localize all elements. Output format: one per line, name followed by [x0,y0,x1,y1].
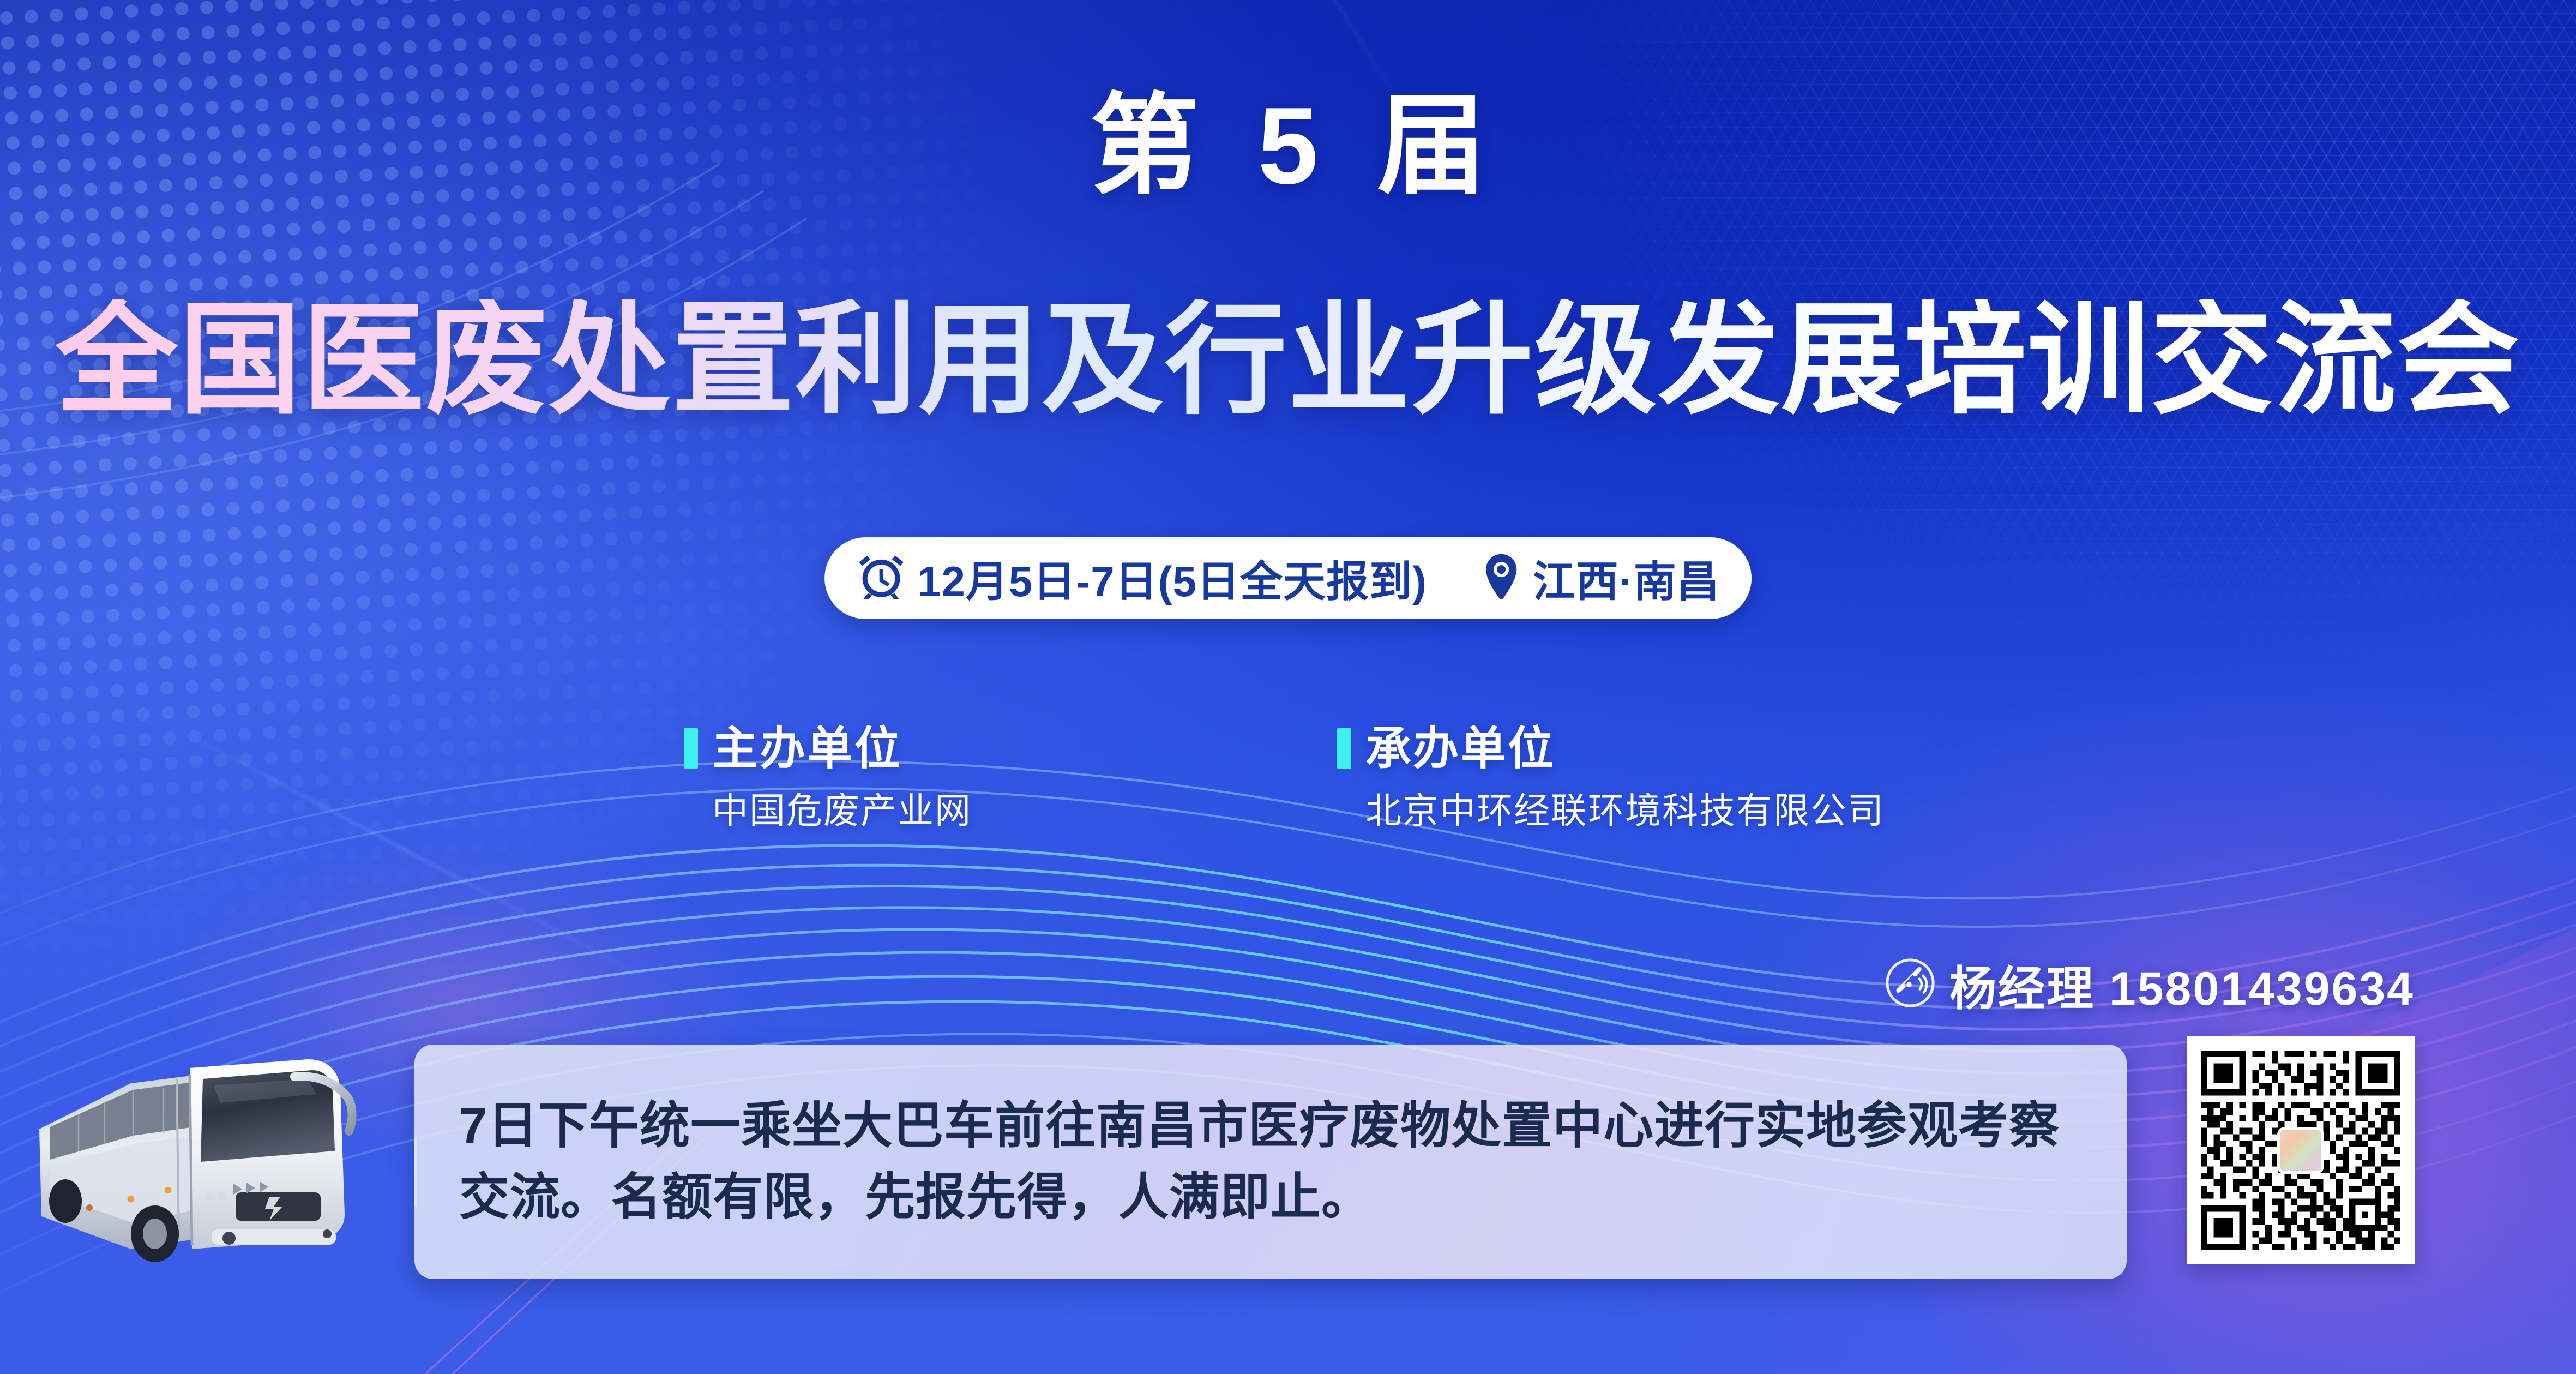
kicker-title: 第 5 届 [0,92,2576,201]
organizer-title: 承办单位 [1365,725,1555,771]
note-bubble: 7日下午统一乘坐大巴车前往南昌市医疗废物处置中心进行实地参观考察交流。名额有限，… [414,1045,2127,1279]
accent-bar-icon [684,728,698,769]
location-group: 江西·南昌 [1480,548,1720,609]
coach-bus-icon [26,1031,386,1287]
alarm-clock-icon [856,553,906,603]
note-text: 7日下午统一乘坐大巴车前往南昌市医疗废物处置中心进行实地参观考察交流。名额有限，… [459,1090,2082,1233]
phone-icon [1885,958,1935,1011]
organizer-title: 主办单位 [712,725,902,771]
organizer-heading-host: 承办单位 [1321,725,1921,771]
date-location-pill: 12月5日-7日(5日全天报到) 江西·南昌 [824,537,1752,619]
contact-line: 杨经理 15801439634 [1885,950,2415,1018]
organizer-name: 中国危废产业网 [655,791,1255,831]
main-headline: 全国医废处置利用及行业升级发展培训交流会 [0,299,2576,421]
contact-text: 杨经理 15801439634 [1949,950,2415,1018]
accent-bar-icon [1337,728,1351,769]
date-group: 12月5日-7日(5日全天报到) [856,548,1427,609]
organizer-block-main: 主办单位 中国危废产业网 [655,725,1255,831]
organizer-name: 北京中环经联环境科技有限公司 [1321,791,1921,831]
qr-center-avatar [2277,1127,2324,1174]
wechat-qr-code[interactable] [2187,1036,2415,1264]
conference-banner: 第 5 届 全国医废处置利用及行业升级发展培训交流会 12月5日-7日(5日全天… [0,0,2576,1374]
organizer-heading-main: 主办单位 [655,725,1255,771]
location-pin-icon [1480,553,1522,603]
organizers-section: 主办单位 中国危废产业网 承办单位 北京中环经联环境科技有限公司 [0,725,2576,831]
location-text: 江西·南昌 [1533,548,1720,609]
organizer-block-host: 承办单位 北京中环经联环境科技有限公司 [1321,725,1921,831]
date-text: 12月5日-7日(5日全天报到) [917,548,1427,609]
